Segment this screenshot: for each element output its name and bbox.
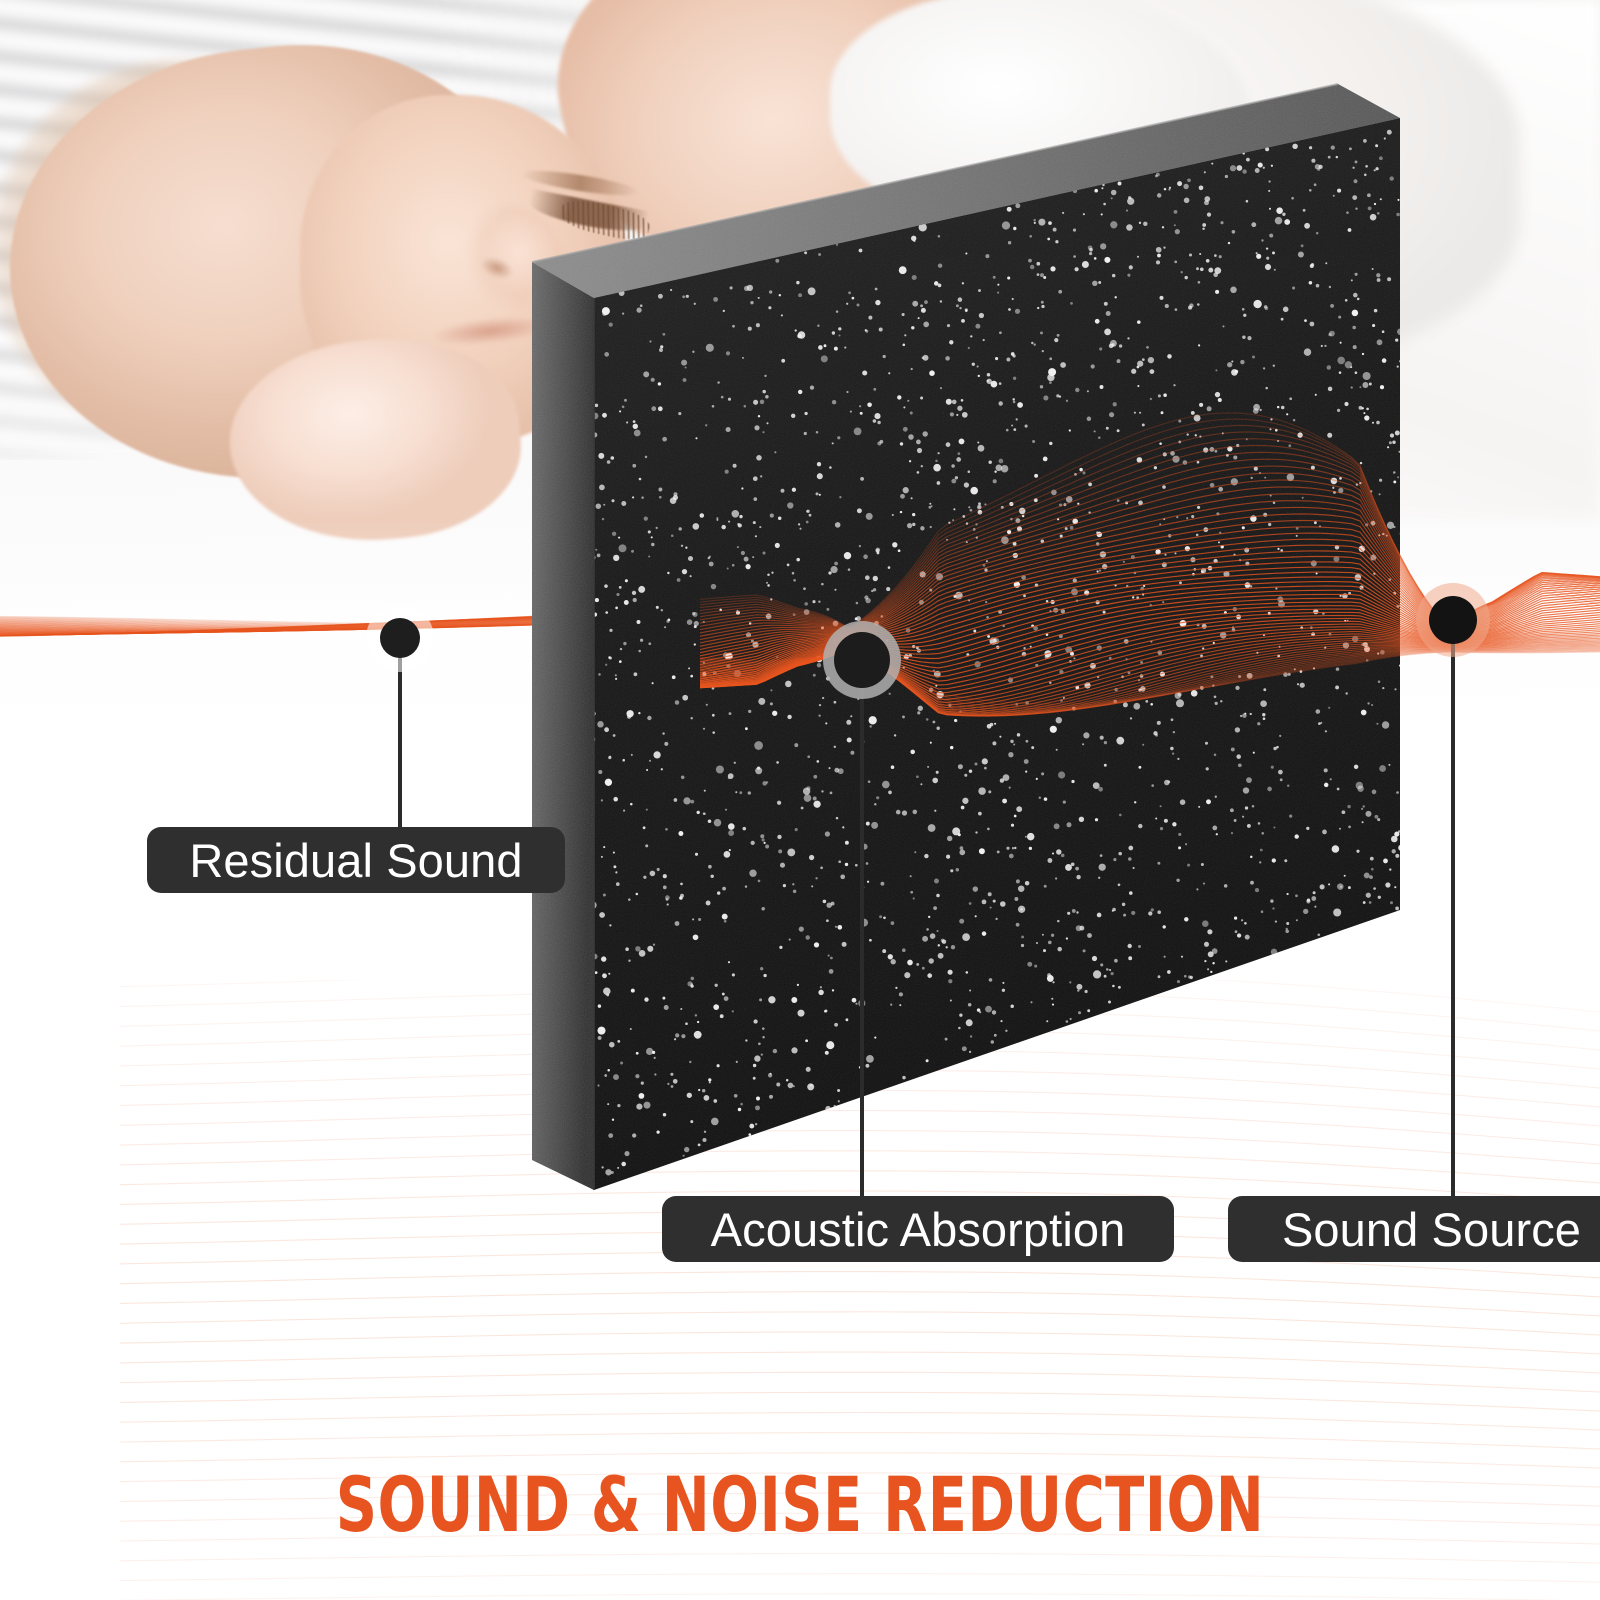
leader-line-residual-sound [398, 650, 402, 830]
label-residual-sound[interactable]: Residual Sound [147, 827, 565, 893]
marker-dot-sound-source [1429, 596, 1477, 644]
marketing-infographic: Residual Sound Acoustic Absorption Sound… [0, 0, 1600, 1600]
label-acoustic-absorption[interactable]: Acoustic Absorption [662, 1196, 1174, 1262]
page-headline: SOUND & NOISE REDUCTION [128, 1460, 1472, 1549]
leader-line-sound-source [1451, 640, 1455, 1198]
marker-dot-acoustic-absorption [834, 632, 890, 688]
leader-line-acoustic-absorption [860, 682, 864, 1198]
label-sound-source[interactable]: Sound Source [1228, 1196, 1600, 1262]
marker-dot-residual-sound [380, 618, 420, 658]
